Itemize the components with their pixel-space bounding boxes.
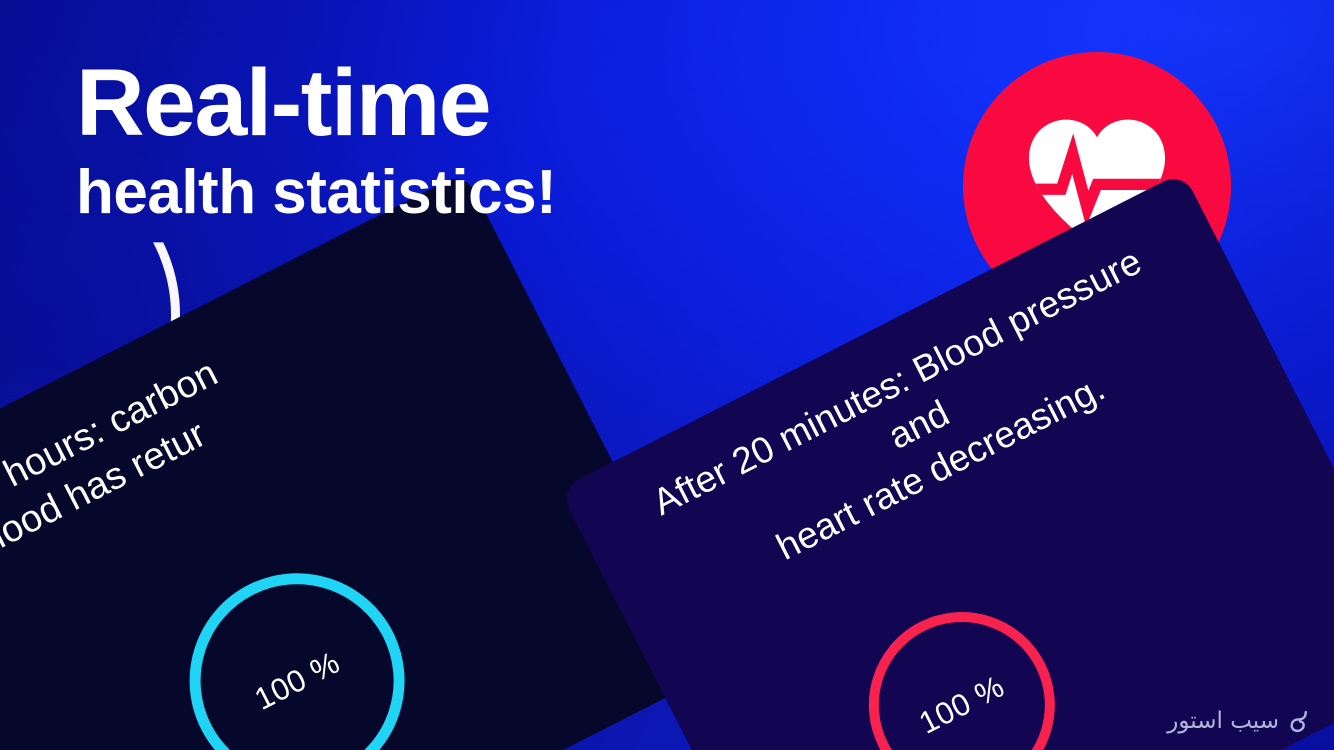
progress-ring-cyan-value: 100 % bbox=[249, 644, 346, 717]
progress-ring-red-value: 100 % bbox=[913, 668, 1010, 741]
progress-ring-red-wrap: 100 % Done bbox=[837, 580, 1107, 750]
headline-line-1: Real-time bbox=[76, 56, 556, 151]
watermark-text: سیب استور bbox=[1167, 708, 1279, 734]
headline-line-2: health statistics! bbox=[76, 151, 556, 235]
page-title: Real-time health statistics! bbox=[76, 56, 556, 235]
watermark: سیب استور bbox=[1167, 708, 1312, 734]
progress-ring-cyan: 100 % bbox=[153, 536, 442, 750]
sibstore-logo-icon bbox=[1287, 709, 1312, 734]
progress-ring-cyan-wrap: 100 % bbox=[153, 536, 442, 750]
screenshot-root: After 8 hours: carbon the blood has retu… bbox=[0, 0, 1334, 750]
progress-ring-red: 100 % bbox=[837, 580, 1087, 750]
